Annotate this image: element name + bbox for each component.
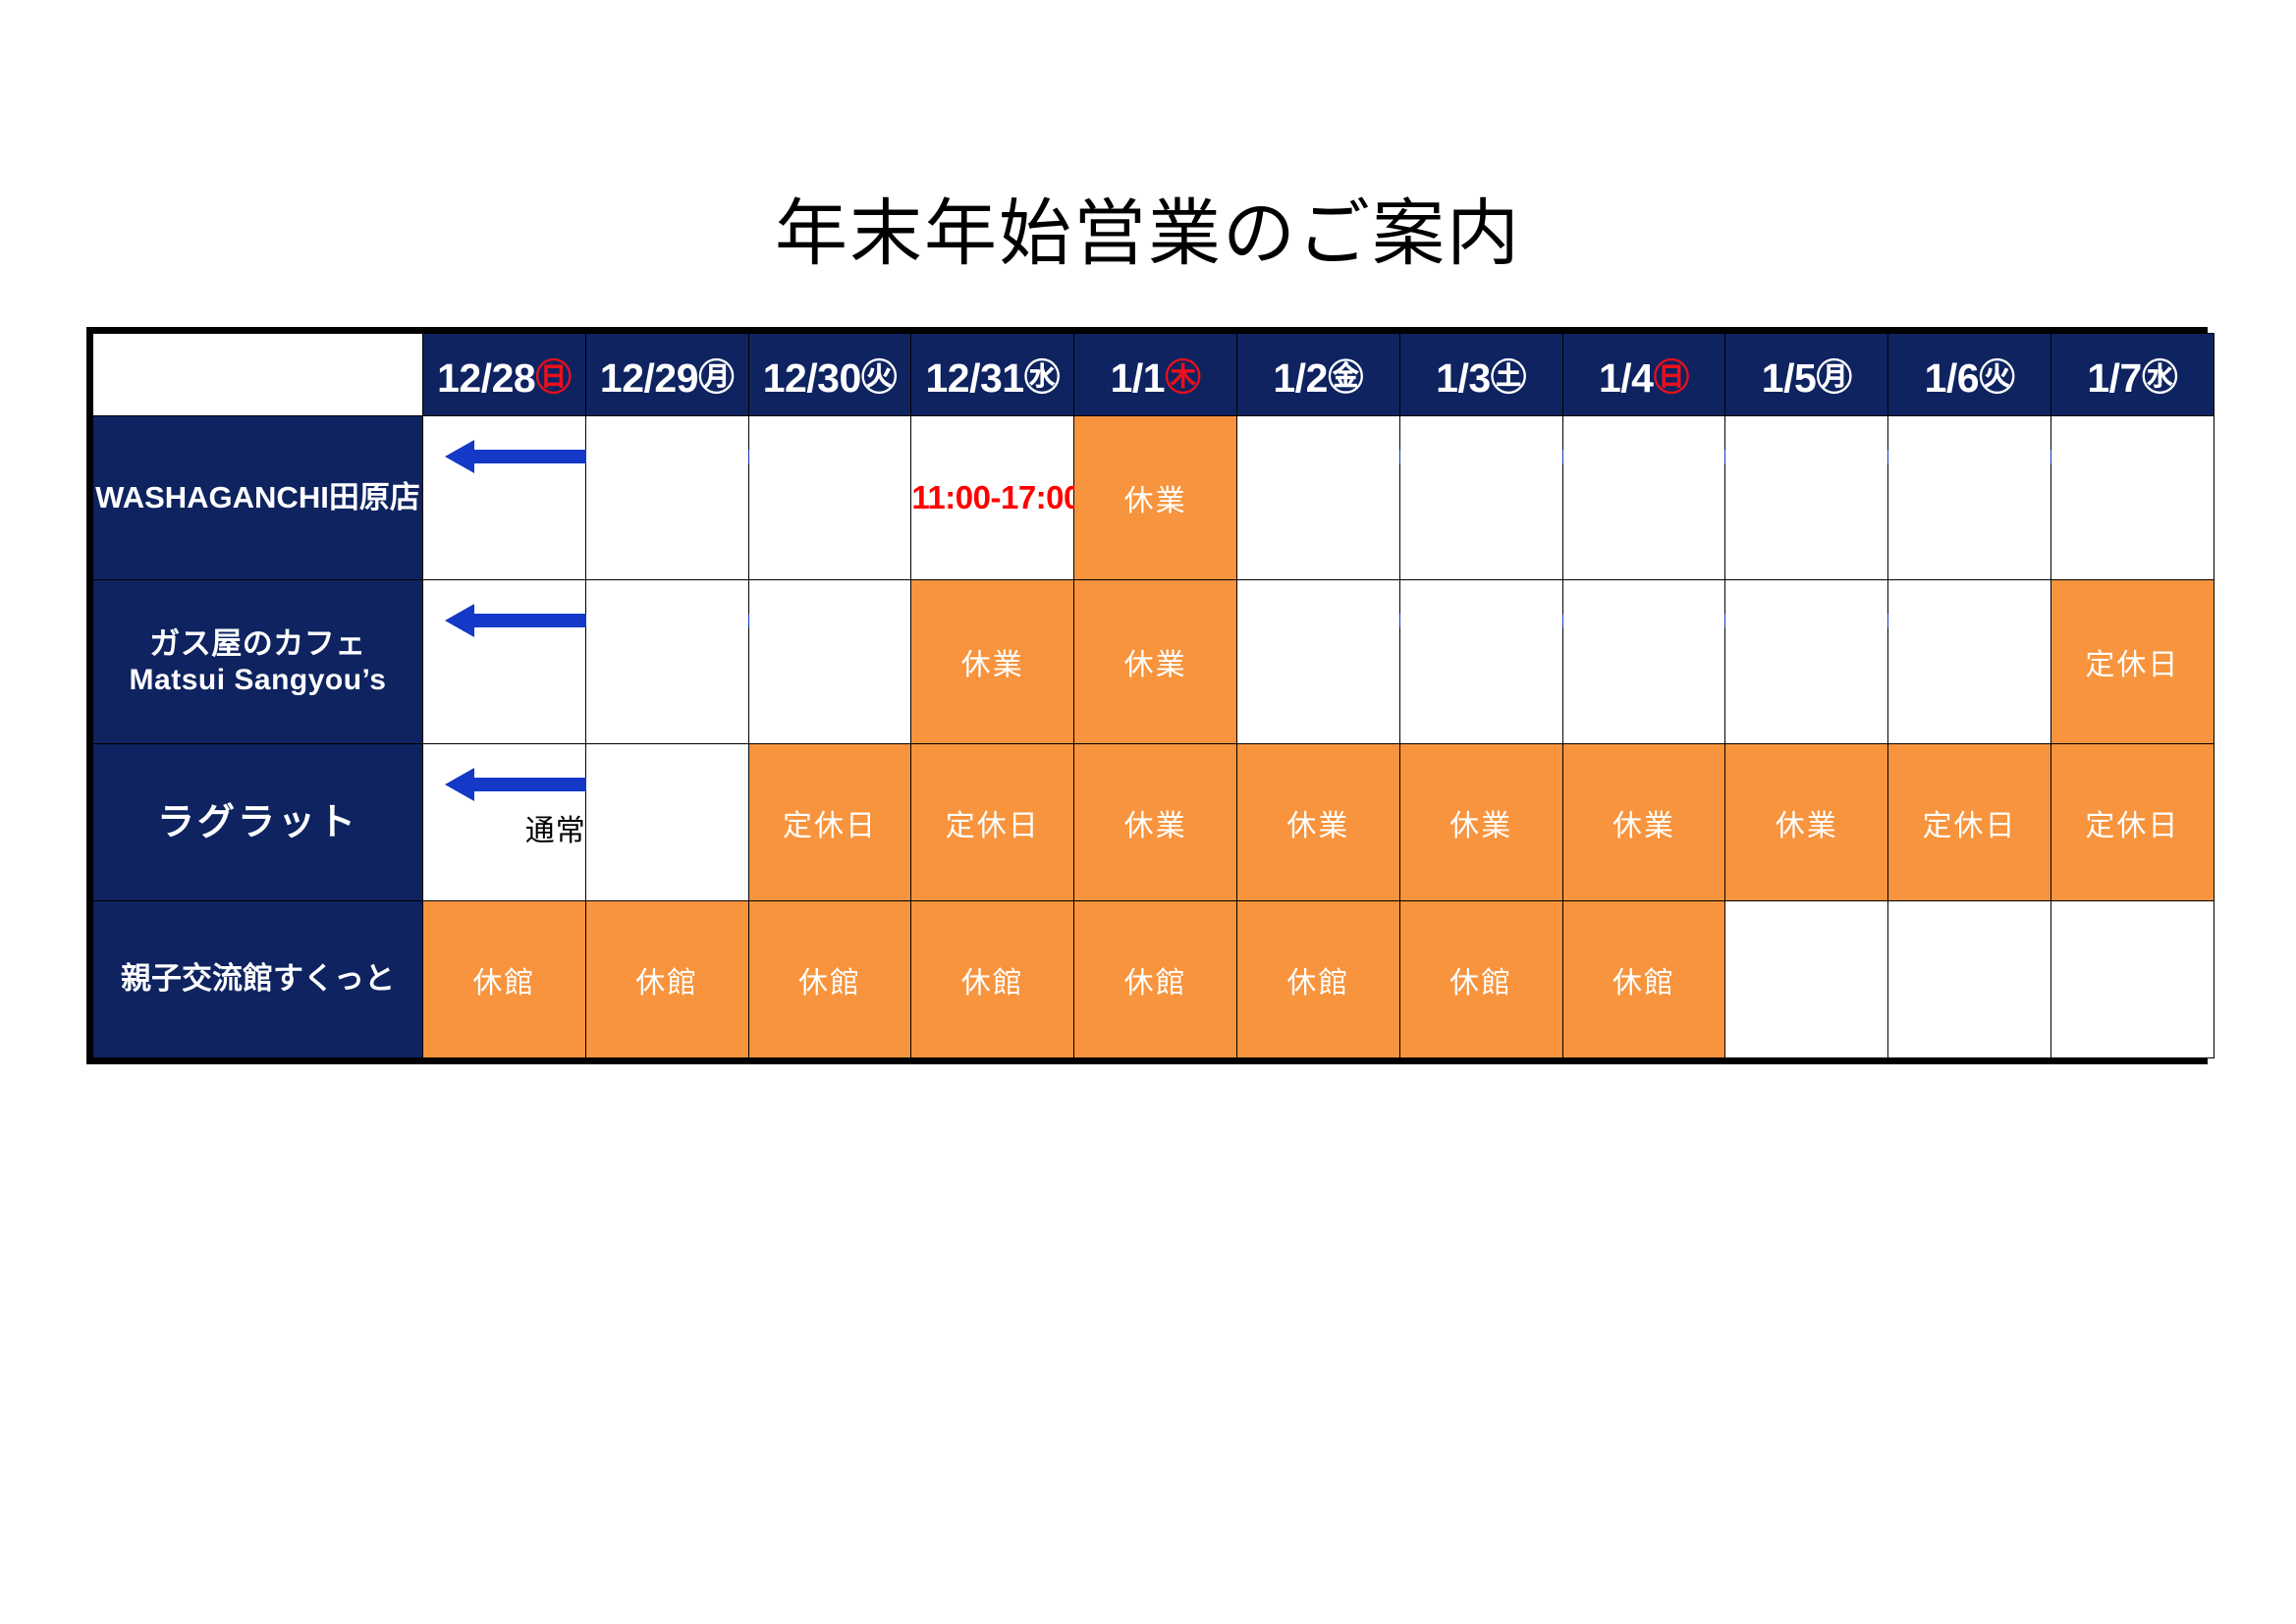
day-of-week-badge: ㊐ [1653, 356, 1689, 399]
status-cell: 休業 [1562, 744, 1725, 901]
row-label-cell: 親子交流館すくっと [93, 901, 423, 1058]
row-label-name: 親子交流館すくっと [93, 961, 422, 998]
status-cell: 休業 [911, 580, 1074, 744]
status-cell: 定休日 [1888, 744, 2051, 901]
status-badge: 定休日 [783, 801, 877, 844]
status-cell [1888, 901, 2051, 1058]
row-label-cell: WASHAGANCHI田原店 [93, 416, 423, 580]
status-cell [1888, 580, 2051, 744]
status-cell: 定休日 [748, 744, 911, 901]
date-header-12-30: 12/30㊋ [748, 334, 911, 416]
date-text: 1/7 [2087, 355, 2142, 401]
status-badge: 休業 [1776, 801, 1838, 844]
status-cell: 休業 [1074, 416, 1237, 580]
date-text: 12/29 [600, 355, 698, 401]
row-label-cell: ガス屋のカフェMatsui Sangyou’s [93, 580, 423, 744]
row-label-cell: ラグラット [93, 744, 423, 901]
status-badge: 休館 [798, 958, 861, 1001]
day-of-week-badge: ㊎ [1328, 356, 1364, 399]
status-cell [748, 416, 911, 580]
status-cell: 定休日 [2050, 744, 2214, 901]
day-of-week-badge: ㊐ [535, 356, 572, 399]
date-header-1-7: 1/7㊌ [2050, 334, 2214, 416]
status-cell: 通常営業11:00-21:00通常営業11:00-21:00 [423, 416, 586, 580]
status-badge: 休業 [961, 640, 1024, 683]
day-of-week-badge: ㊋ [1979, 356, 2015, 399]
day-of-week-badge: ㊊ [1816, 356, 1852, 399]
date-text: 1/3 [1436, 355, 1491, 401]
special-hours-text: 11:00-17:00 [911, 479, 1080, 515]
header-corner-cell [93, 334, 423, 416]
day-of-week-badge: ㊌ [2142, 356, 2178, 399]
row-label-jp: ガス屋のカフェ [93, 626, 422, 663]
status-cell: 休館 [585, 901, 748, 1058]
status-cell: 11:00-17:00 [911, 416, 1074, 580]
status-cell: 通常営業 [423, 744, 586, 901]
row-label-name: WASHAGANCHI田原店 [93, 480, 422, 516]
status-badge: 休館 [635, 958, 698, 1001]
day-of-week-badge: ㊋ [861, 356, 898, 399]
status-badge: 休館 [961, 958, 1024, 1001]
status-badge: 定休日 [2085, 640, 2179, 683]
status-cell [1399, 580, 1562, 744]
date-header-12-29: 12/29㊊ [585, 334, 748, 416]
status-cell: 休館 [1236, 901, 1399, 1058]
status-cell [1725, 901, 1888, 1058]
date-text: 12/28 [437, 355, 535, 401]
status-badge: 休館 [472, 958, 535, 1001]
date-header-1-1: 1/1㊍ [1074, 334, 1237, 416]
date-header-12-31: 12/31㊌ [911, 334, 1074, 416]
date-header-1-6: 1/6㊋ [1888, 334, 2051, 416]
date-header-1-2: 1/2㊎ [1236, 334, 1399, 416]
status-cell: 休館 [1074, 901, 1237, 1058]
status-cell: 休業 [1399, 744, 1562, 901]
status-cell: 定休日 [2050, 580, 2214, 744]
status-cell: 休館 [748, 901, 911, 1058]
row-label-en: Matsui Sangyou’s [93, 663, 422, 697]
table-row: ラグラット通常営業定休日定休日休業休業休業休業休業定休日定休日 [93, 744, 2214, 901]
status-badge: 休業 [1124, 476, 1187, 519]
date-text: 1/6 [1925, 355, 1980, 401]
status-cell: 休業 [1236, 744, 1399, 901]
day-of-week-badge: ㊏ [1491, 356, 1527, 399]
status-cell: 休業 [1725, 744, 1888, 901]
table-row: 親子交流館すくっと休館休館休館休館休館休館休館休館 [93, 901, 2214, 1058]
status-cell [1888, 416, 2051, 580]
schedule-table-container: 12/28㊐12/29㊊12/30㊋12/31㊌1/1㊍1/2㊎1/3㊏1/4㊐… [86, 327, 2208, 1064]
table-row: WASHAGANCHI田原店通常営業11:00-21:00通常営業11:00-2… [93, 416, 2214, 580]
status-badge: 定休日 [946, 801, 1040, 844]
status-badge: 定休日 [1923, 801, 2017, 844]
day-of-week-badge: ㊌ [1024, 356, 1061, 399]
date-text: 1/1 [1111, 355, 1166, 401]
schedule-table: 12/28㊐12/29㊊12/30㊋12/31㊌1/1㊍1/2㊎1/3㊏1/4㊐… [92, 333, 2214, 1058]
status-cell: 休業 [1074, 580, 1237, 744]
date-text: 12/31 [925, 355, 1023, 401]
date-text: 1/5 [1762, 355, 1817, 401]
status-cell: 通常営業6:30-18:00通常営業6:30-18:00 [423, 580, 586, 744]
day-of-week-badge: ㊍ [1165, 356, 1201, 399]
page-title: 年末年始営業のご案内 [0, 175, 2296, 280]
status-cell [1562, 416, 1725, 580]
status-cell [1399, 416, 1562, 580]
status-cell [1725, 416, 1888, 580]
status-cell: 定休日 [911, 744, 1074, 901]
status-cell [1562, 580, 1725, 744]
status-cell [748, 580, 911, 744]
status-badge: 休業 [1124, 801, 1187, 844]
status-cell: 休業 [1074, 744, 1237, 901]
status-cell [1236, 580, 1399, 744]
status-cell [2050, 416, 2214, 580]
status-cell: 休館 [423, 901, 586, 1058]
status-cell [1236, 416, 1399, 580]
status-cell [585, 744, 748, 901]
status-badge: 休業 [1613, 801, 1675, 844]
status-badge: 休館 [1613, 958, 1675, 1001]
status-cell [585, 580, 748, 744]
status-cell [2050, 901, 2214, 1058]
status-cell [585, 416, 748, 580]
date-header-12-28: 12/28㊐ [423, 334, 586, 416]
status-badge: 休業 [1124, 640, 1187, 683]
day-of-week-badge: ㊊ [698, 356, 735, 399]
date-header-1-5: 1/5㊊ [1725, 334, 1888, 416]
date-text: 1/4 [1599, 355, 1654, 401]
status-badge: 定休日 [2085, 801, 2179, 844]
date-header-1-3: 1/3㊏ [1399, 334, 1562, 416]
status-cell: 休館 [1562, 901, 1725, 1058]
status-cell: 休館 [1399, 901, 1562, 1058]
status-badge: 休館 [1449, 958, 1512, 1001]
status-badge: 休業 [1449, 801, 1512, 844]
row-label-name: ラグラット [93, 800, 422, 844]
date-text: 1/2 [1273, 355, 1328, 401]
status-badge: 休館 [1124, 958, 1187, 1001]
status-badge: 休業 [1286, 801, 1349, 844]
table-row: ガス屋のカフェMatsui Sangyou’s通常営業6:30-18:00通常営… [93, 580, 2214, 744]
date-text: 12/30 [763, 355, 861, 401]
date-header-1-4: 1/4㊐ [1562, 334, 1725, 416]
status-cell [1725, 580, 1888, 744]
status-cell: 休館 [911, 901, 1074, 1058]
table-header-row: 12/28㊐12/29㊊12/30㊋12/31㊌1/1㊍1/2㊎1/3㊏1/4㊐… [93, 334, 2214, 416]
status-badge: 休館 [1286, 958, 1349, 1001]
